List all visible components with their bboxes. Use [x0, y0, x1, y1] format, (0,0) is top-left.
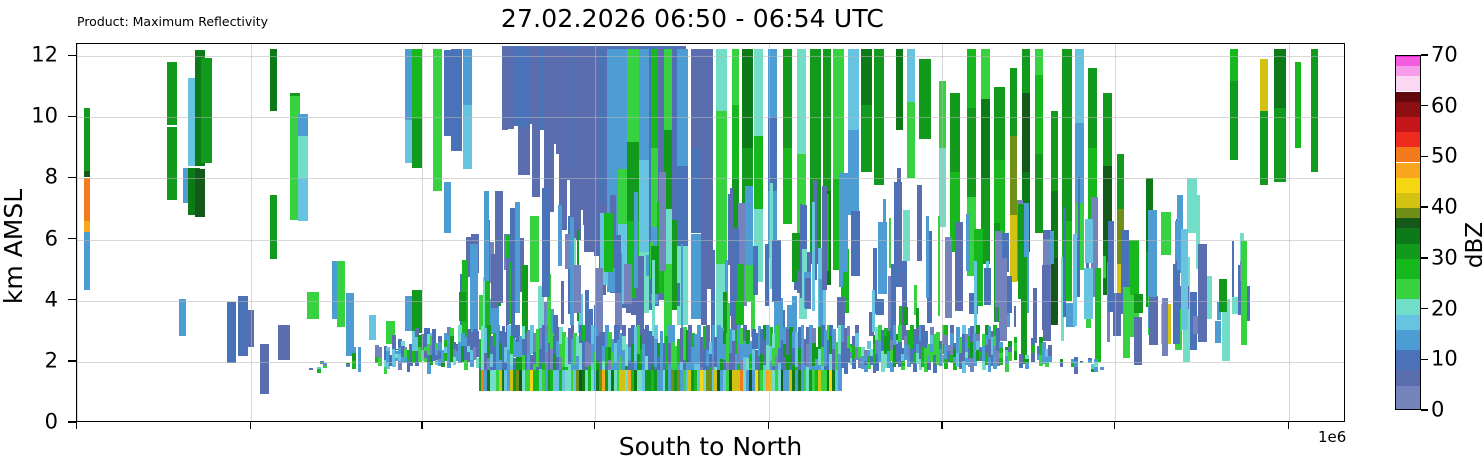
- reflectivity-cell: [999, 353, 1003, 358]
- reflectivity-cell: [532, 49, 540, 148]
- x-axis-tick: [768, 422, 769, 429]
- reflectivity-cell: [1162, 298, 1168, 356]
- reflectivity-cell: [84, 221, 90, 232]
- x-axis-label: South to North: [76, 432, 1345, 461]
- reflectivity-cell: [1008, 347, 1012, 353]
- reflectivity-cell: [323, 366, 327, 368]
- reflectivity-cell: [463, 49, 472, 106]
- colorbar-segment: [1396, 228, 1420, 243]
- reflectivity-cell: [1008, 352, 1012, 360]
- reflectivity-cell: [736, 300, 743, 324]
- reflectivity-cell: [955, 222, 963, 311]
- reflectivity-cell: [945, 237, 952, 319]
- reflectivity-cell: [822, 186, 827, 290]
- x-axis-tick: [594, 422, 595, 429]
- reflectivity-cell: [1051, 111, 1058, 190]
- reflectivity-cell: [1181, 229, 1188, 329]
- reflectivity-cell: [167, 127, 178, 200]
- reflectivity-cell: [995, 231, 1002, 306]
- reflectivity-cell: [195, 169, 205, 216]
- y-axis-tick: [68, 299, 76, 300]
- reflectivity-cell: [768, 49, 777, 118]
- reflectivity-cell: [966, 214, 970, 271]
- colorbar-tick-label: 50: [1431, 146, 1458, 167]
- reflectivity-cell: [412, 290, 422, 333]
- reflectivity-cell: [1014, 351, 1018, 361]
- reflectivity-cell: [615, 235, 621, 292]
- colorbar-tick: [1421, 308, 1428, 309]
- reflectivity-cell: [1274, 108, 1286, 181]
- reflectivity-cell: [432, 329, 436, 340]
- reflectivity-cell: [765, 244, 769, 306]
- reflectivity-cell: [1035, 154, 1043, 233]
- x-axis-tick: [421, 422, 422, 429]
- y-axis-tick-label: 0: [45, 412, 58, 433]
- reflectivity-cell: [1025, 363, 1029, 368]
- reflectivity-cell: [459, 292, 466, 320]
- reflectivity-cell: [515, 202, 520, 314]
- colorbar-segment: [1396, 76, 1420, 91]
- reflectivity-cell: [1149, 296, 1158, 345]
- reflectivity-cell: [1088, 360, 1092, 361]
- reflectivity-cell: [167, 62, 178, 125]
- reflectivity-cell: [753, 246, 758, 295]
- colorbar-segment: [1396, 370, 1420, 385]
- reflectivity-cell: [1260, 111, 1268, 184]
- colorbar-tick-label: 0: [1431, 400, 1444, 421]
- y-axis-tick: [68, 116, 76, 117]
- reflectivity-cell: [677, 49, 688, 167]
- reflectivity-cell: [838, 370, 842, 391]
- y-axis-tick-label: 10: [31, 106, 58, 127]
- reflectivity-cell: [346, 363, 350, 364]
- reflectivity-cell: [227, 302, 236, 363]
- reflectivity-cell: [1045, 362, 1049, 367]
- reflectivity-cell: [855, 325, 859, 333]
- reflectivity-cell: [317, 371, 321, 373]
- reflectivity-cell: [1094, 367, 1098, 373]
- colorbar-segment: [1396, 132, 1420, 147]
- reflectivity-cell: [427, 363, 431, 373]
- reflectivity-cell: [677, 283, 680, 306]
- reflectivity-cell: [270, 195, 276, 259]
- reflectivity-cell: [848, 130, 860, 216]
- reflectivity-cell: [1010, 68, 1017, 135]
- reflectivity-cell: [627, 49, 639, 142]
- reflectivity-cell: [716, 49, 727, 112]
- colorbar-segment: [1396, 208, 1420, 218]
- reflectivity-cell: [530, 216, 539, 283]
- reflectivity-cell: [950, 93, 960, 172]
- reflectivity-cell: [346, 366, 350, 367]
- reflectivity-cell: [323, 364, 327, 366]
- reflectivity-cell: [1060, 362, 1064, 367]
- reflectivity-cell: [1295, 62, 1302, 148]
- colorbar-segment: [1396, 56, 1420, 66]
- reflectivity-cell: [307, 292, 319, 320]
- reflectivity-cell: [463, 105, 472, 169]
- reflectivity-cell: [732, 49, 739, 106]
- reflectivity-cell: [999, 342, 1003, 348]
- reflectivity-cell: [337, 261, 345, 327]
- reflectivity-cell: [618, 169, 627, 224]
- reflectivity-cell: [994, 87, 1006, 160]
- reflectivity-cell: [1008, 341, 1012, 346]
- reflectivity-cell: [451, 49, 463, 151]
- reflectivity-cell: [1176, 221, 1180, 262]
- colorbar-tick-label: 60: [1431, 95, 1458, 116]
- reflectivity-cell: [1103, 93, 1112, 166]
- reflectivity-cell: [1103, 256, 1106, 278]
- reflectivity-cell: [1063, 207, 1066, 318]
- reflectivity-cell: [919, 59, 931, 138]
- colorbar-segment: [1396, 102, 1420, 117]
- reflectivity-cell: [677, 166, 688, 245]
- reflectivity-cell: [1060, 359, 1064, 363]
- reflectivity-cell: [901, 366, 905, 370]
- colorbar-tick-label: 70: [1431, 45, 1458, 66]
- reflectivity-cell: [730, 188, 734, 296]
- reflectivity-cell: [672, 220, 677, 310]
- reflectivity-cell: [1230, 49, 1238, 81]
- reflectivity-cell: [1088, 362, 1092, 363]
- colorbar-segment: [1396, 299, 1420, 314]
- reflectivity-cell: [1025, 359, 1029, 363]
- colorbar: [1395, 55, 1421, 410]
- colorbar-segment: [1396, 259, 1420, 279]
- colorbar-label: dBZ: [1462, 222, 1482, 268]
- reflectivity-cell: [1074, 367, 1078, 374]
- reflectivity-cell: [1241, 241, 1247, 345]
- reflectivity-cell: [1050, 231, 1054, 264]
- reflectivity-cell: [847, 326, 851, 336]
- reflectivity-cell: [1014, 306, 1017, 328]
- reflectivity-cell: [1051, 258, 1058, 325]
- reflectivity-cell: [1232, 241, 1235, 304]
- reflectivity-cell: [1215, 321, 1222, 343]
- y-axis-tick: [68, 238, 76, 239]
- reflectivity-cell: [903, 307, 908, 325]
- y-axis-tick: [68, 360, 76, 361]
- reflectivity-cell: [1031, 345, 1035, 353]
- reflectivity-cell: [1084, 268, 1092, 318]
- reflectivity-cell: [604, 213, 613, 272]
- reflectivity-cell: [917, 185, 922, 261]
- reflectivity-cell: [976, 325, 980, 334]
- reflectivity-cell: [1117, 154, 1124, 209]
- reflectivity-cell: [812, 202, 815, 311]
- reflectivity-cell: [874, 49, 883, 118]
- reflectivity-cell: [712, 250, 716, 289]
- reflectivity-cell: [664, 49, 672, 130]
- reflectivity-cell: [967, 108, 976, 197]
- reflectivity-cell: [1129, 240, 1138, 295]
- reflectivity-cell: [201, 58, 212, 163]
- reflectivity-cell: [801, 325, 805, 338]
- reflectivity-cell: [1019, 363, 1023, 368]
- reflectivity-cell: [618, 49, 627, 170]
- reflectivity-cell: [984, 268, 990, 305]
- colorbar-segment: [1396, 279, 1420, 299]
- colorbar-segment: [1396, 163, 1420, 178]
- reflectivity-cell: [1075, 49, 1084, 124]
- y-axis-label: km AMSL: [0, 189, 28, 304]
- reflectivity-cell: [317, 369, 321, 371]
- reflectivity-cell: [927, 362, 931, 370]
- reflectivity-cell: [1173, 264, 1180, 344]
- reflectivity-cell: [897, 168, 900, 266]
- reflectivity-cell: [996, 328, 1000, 339]
- reflectivity-cell: [1042, 265, 1049, 302]
- reflectivity-cell: [732, 105, 739, 178]
- colorbar-tick: [1421, 156, 1428, 157]
- reflectivity-cell: [896, 49, 904, 130]
- reflectivity-cell: [1074, 357, 1078, 361]
- reflectivity-cell: [981, 99, 990, 178]
- reflectivity-cell: [907, 49, 915, 102]
- reflectivity-cell: [651, 49, 658, 148]
- reflectivity-cell: [1134, 317, 1142, 365]
- colorbar-tick-label: 20: [1431, 298, 1458, 319]
- y-axis-tick-label: 6: [45, 228, 58, 249]
- y-axis-tick: [68, 55, 76, 56]
- reflectivity-cell: [950, 325, 954, 333]
- reflectivity-cell: [270, 49, 276, 112]
- reflectivity-cell: [839, 204, 843, 288]
- reflectivity-cell: [848, 49, 860, 130]
- reflectivity-cell: [323, 363, 327, 364]
- reflectivity-cell: [622, 325, 626, 336]
- colorbar-tick: [1421, 359, 1428, 360]
- y-axis-tick-label: 2: [45, 350, 58, 371]
- reflectivity-cell: [754, 136, 763, 209]
- reflectivity-cell: [797, 49, 806, 154]
- reflectivity-cell: [1018, 204, 1024, 299]
- colorbar-segment: [1396, 178, 1420, 193]
- y-axis-tick-label: 12: [31, 45, 58, 66]
- reflectivity-cells: [77, 44, 1344, 421]
- colorbar-segment: [1396, 315, 1420, 330]
- reflectivity-cell: [639, 49, 649, 161]
- reflectivity-cell: [542, 188, 550, 297]
- reflectivity-cell: [378, 347, 382, 358]
- reflectivity-cell: [660, 331, 664, 343]
- reflectivity-cell: [518, 49, 530, 127]
- reflectivity-cell: [1230, 81, 1238, 160]
- reflectivity-cell: [248, 310, 255, 347]
- reflectivity-cell: [433, 130, 441, 191]
- reflectivity-cell: [1094, 359, 1098, 362]
- reflectivity-cell: [1108, 221, 1115, 312]
- reflectivity-cell: [1035, 49, 1043, 75]
- reflectivity-cell: [484, 191, 489, 281]
- x-axis-tick: [76, 422, 77, 429]
- reflectivity-cell: [438, 336, 442, 342]
- colorbar-segment: [1396, 66, 1420, 76]
- reflectivity-cell: [874, 117, 883, 184]
- reflectivity-cell: [491, 254, 498, 308]
- reflectivity-cell: [639, 160, 649, 252]
- colorbar-tick-label: 40: [1431, 197, 1458, 218]
- reflectivity-cell: [358, 357, 362, 364]
- reflectivity-cell: [1025, 355, 1029, 359]
- reflectivity-cell: [412, 119, 422, 168]
- colorbar-tick-label: 30: [1431, 247, 1458, 268]
- reflectivity-cell: [646, 255, 649, 276]
- reflectivity-cell: [939, 81, 945, 148]
- reflectivity-cell: [654, 325, 658, 339]
- reflectivity-cell: [1048, 356, 1052, 362]
- reflectivity-cell: [298, 178, 308, 221]
- radar-cross-section-figure: 27.02.2026 06:50 - 06:54 UTC Product: Ma…: [0, 0, 1482, 470]
- y-axis-tick: [68, 177, 76, 178]
- reflectivity-cell: [1134, 294, 1142, 313]
- reflectivity-cell: [607, 49, 619, 209]
- reflectivity-cell: [346, 365, 350, 366]
- reflectivity-cell: [441, 362, 445, 367]
- reflectivity-cell: [433, 49, 441, 130]
- reflectivity-cell: [701, 221, 706, 325]
- colorbar-segment: [1396, 218, 1420, 228]
- plot-area: [76, 43, 1345, 422]
- reflectivity-cell: [1062, 49, 1072, 142]
- reflectivity-cell: [1088, 358, 1092, 359]
- reflectivity-cell: [561, 281, 564, 324]
- reflectivity-cell: [450, 328, 454, 337]
- reflectivity-cell: [1085, 219, 1093, 263]
- reflectivity-cell: [369, 315, 376, 341]
- reflectivity-cell: [179, 299, 186, 336]
- reflectivity-cell: [392, 335, 396, 349]
- reflectivity-cell: [1311, 49, 1318, 106]
- reflectivity-cell: [807, 252, 811, 272]
- reflectivity-cell: [938, 216, 940, 316]
- reflectivity-cell: [532, 148, 540, 197]
- reflectivity-cell: [1073, 234, 1077, 327]
- reflectivity-cell: [855, 333, 859, 347]
- reflectivity-cell: [754, 49, 763, 136]
- reflectivity-cell: [691, 148, 702, 234]
- colorbar-segment: [1396, 386, 1420, 410]
- reflectivity-cell: [1048, 349, 1052, 356]
- reflectivity-cell: [837, 297, 845, 329]
- reflectivity-cell: [697, 325, 701, 337]
- reflectivity-cell: [1094, 362, 1098, 366]
- reflectivity-cell: [861, 105, 872, 172]
- reflectivity-cell: [903, 210, 910, 262]
- reflectivity-cell: [585, 327, 589, 342]
- reflectivity-cell: [907, 102, 915, 178]
- colorbar-tick: [1421, 206, 1428, 207]
- reflectivity-cell: [1019, 354, 1023, 359]
- colorbar-tick: [1421, 257, 1428, 258]
- reflectivity-cell: [768, 117, 777, 190]
- colorbar-tick: [1421, 409, 1428, 410]
- product-annotation: Product: Maximum Reflectivity: [77, 14, 268, 29]
- reflectivity-cell: [1148, 210, 1157, 297]
- reflectivity-cell: [1100, 367, 1104, 368]
- reflectivity-cell: [1035, 75, 1043, 154]
- reflectivity-cell: [926, 216, 929, 297]
- colorbar-segment: [1396, 117, 1420, 132]
- reflectivity-cell: [317, 367, 321, 369]
- y-axis-tick-label: 4: [45, 289, 58, 310]
- y-axis-tick-label: 8: [45, 167, 58, 188]
- colorbar-segment: [1396, 56, 1420, 57]
- reflectivity-cell: [352, 347, 356, 353]
- reflectivity-cell: [691, 49, 702, 148]
- reflectivity-cell: [930, 302, 932, 319]
- reflectivity-cell: [981, 49, 990, 99]
- reflectivity-cell: [671, 325, 675, 341]
- x-axis-tick: [941, 422, 942, 429]
- reflectivity-cell: [1031, 353, 1035, 363]
- reflectivity-cell: [1113, 293, 1120, 336]
- reflectivity-cell: [833, 49, 844, 179]
- reflectivity-cell: [783, 148, 792, 224]
- reflectivity-cell: [1019, 358, 1023, 363]
- y-axis-tick: [68, 421, 76, 422]
- reflectivity-cell: [745, 186, 753, 265]
- colorbar-segment: [1396, 244, 1420, 259]
- reflectivity-cell: [320, 361, 324, 362]
- reflectivity-cell: [851, 211, 859, 276]
- reflectivity-cell: [967, 49, 976, 109]
- reflectivity-cell: [378, 358, 382, 367]
- reflectivity-cell: [1274, 49, 1286, 109]
- reflectivity-cell: [883, 199, 886, 261]
- reflectivity-cell: [772, 240, 781, 301]
- colorbar-tick: [1421, 105, 1428, 106]
- reflectivity-cell: [358, 347, 362, 357]
- reflectivity-cell: [1311, 105, 1318, 172]
- reflectivity-cell: [716, 185, 727, 264]
- reflectivity-cell: [545, 325, 549, 335]
- reflectivity-cell: [1161, 212, 1171, 255]
- reflectivity-cell: [1022, 49, 1031, 93]
- reflectivity-cell: [1123, 287, 1129, 358]
- reflectivity-cell: [898, 325, 902, 342]
- x-axis-offset-label: 1e6: [1318, 428, 1346, 446]
- reflectivity-cell: [1219, 279, 1227, 312]
- reflectivity-cell: [352, 353, 356, 360]
- reflectivity-cell: [444, 182, 452, 234]
- reflectivity-cell: [797, 271, 801, 293]
- reflectivity-cell: [386, 347, 390, 351]
- reflectivity-cell: [805, 278, 812, 310]
- reflectivity-cell: [702, 49, 714, 203]
- reflectivity-cell: [401, 341, 405, 346]
- reflectivity-cell: [290, 93, 300, 96]
- reflectivity-cell: [84, 171, 90, 177]
- colorbar-tick: [1421, 54, 1428, 55]
- colorbar-segment: [1396, 350, 1420, 370]
- reflectivity-cell: [352, 360, 356, 369]
- reflectivity-cell: [559, 49, 566, 231]
- reflectivity-cell: [84, 232, 90, 290]
- colorbar-segment: [1396, 193, 1420, 208]
- reflectivity-cell: [742, 49, 753, 148]
- reflectivity-cell: [298, 114, 308, 135]
- reflectivity-cell: [1095, 268, 1101, 363]
- reflectivity-cell: [810, 49, 821, 179]
- reflectivity-cell: [518, 127, 530, 176]
- reflectivity-cell: [872, 290, 875, 332]
- colorbar-segment: [1396, 330, 1420, 350]
- reflectivity-cell: [558, 205, 562, 266]
- reflectivity-cell: [944, 335, 948, 344]
- x-axis-tick: [1288, 422, 1289, 429]
